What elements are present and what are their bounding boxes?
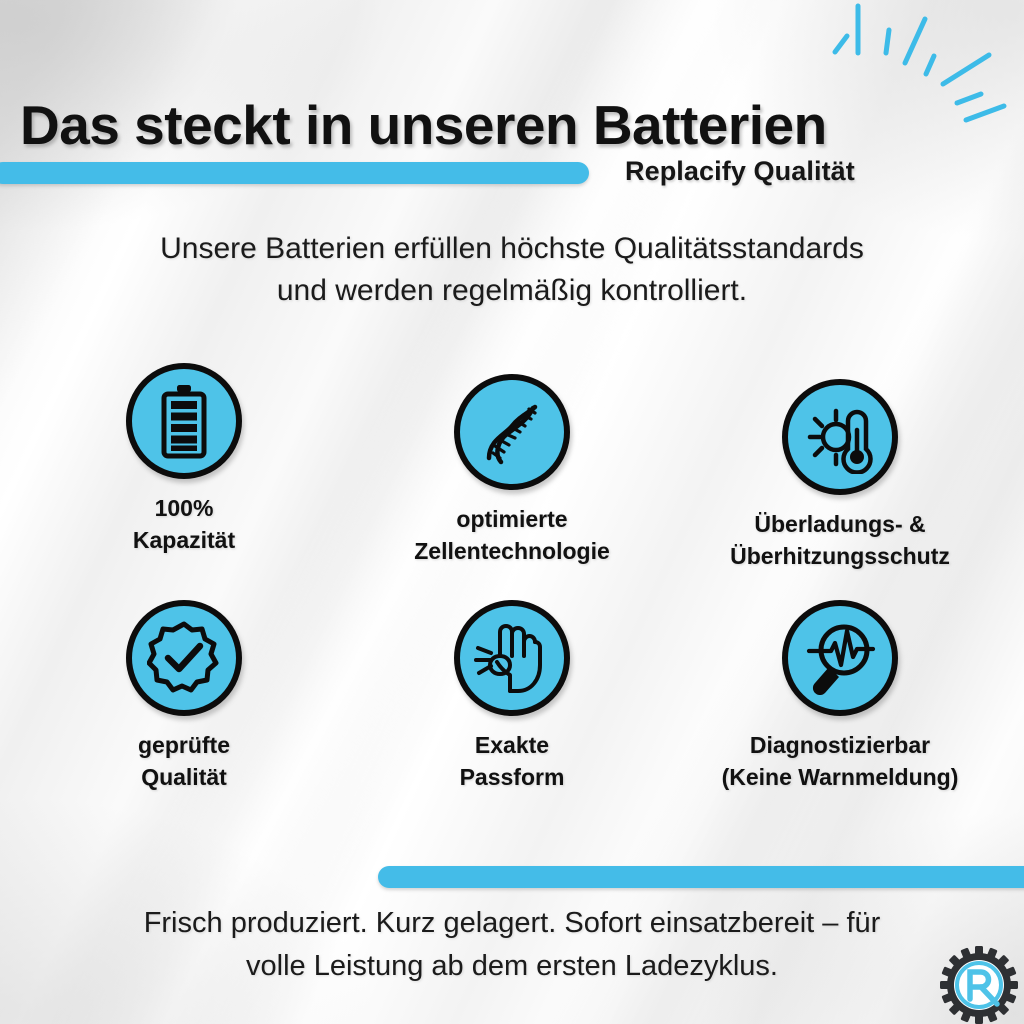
feature-item-cell-technology: optimierte Zellentechnologie bbox=[348, 352, 676, 572]
feature-row-1: 100% Kapazität bbox=[20, 352, 1004, 572]
feature-label-line-1: Exakte bbox=[460, 729, 565, 761]
sun-thermometer-icon bbox=[782, 379, 898, 495]
footer-line-2: volle Leistung ab dem ersten Ladezyklus. bbox=[62, 945, 962, 988]
intro-line-2: und werden regelmäßig kontrolliert. bbox=[62, 270, 962, 312]
verified-badge-check-icon bbox=[126, 600, 242, 716]
infographic-poster: Das steckt in unseren Batterien Replacif… bbox=[0, 0, 1024, 1024]
feature-label-line-2: Kapazität bbox=[133, 524, 235, 556]
feature-label-line-1: 100% bbox=[133, 492, 235, 524]
feature-item-exact-fit: Exakte Passform bbox=[348, 600, 676, 793]
feature-label-line-1: geprüfte bbox=[138, 729, 230, 761]
magnifier-pulse-icon bbox=[782, 600, 898, 716]
footer-line-1: Frisch produziert. Kurz gelagert. Sofort… bbox=[62, 902, 962, 945]
feature-label-line-1: optimierte bbox=[414, 503, 610, 535]
feature-label-line-2: (Keine Warnmeldung) bbox=[722, 761, 959, 793]
accent-bar-top bbox=[0, 162, 589, 184]
intro-paragraph: Unsere Batterien erfüllen höchste Qualit… bbox=[62, 228, 962, 312]
accent-bar-bottom bbox=[378, 866, 1024, 888]
replacify-gear-r-logo bbox=[940, 946, 1018, 1024]
page-title: Das steckt in unseren Batterien bbox=[20, 94, 960, 156]
dna-helix-icon bbox=[454, 374, 570, 490]
battery-full-icon bbox=[126, 363, 242, 479]
feature-label-line-1: Überladungs- & bbox=[730, 508, 950, 540]
feature-label-capacity: 100% Kapazität bbox=[133, 492, 235, 556]
feature-label-line-2: Qualität bbox=[138, 761, 230, 793]
feature-label-cell-technology: optimierte Zellentechnologie bbox=[414, 503, 610, 567]
feature-label-line-2: Überhitzungsschutz bbox=[730, 540, 950, 572]
feature-label-overload-protection: Überladungs- & Überhitzungsschutz bbox=[730, 508, 950, 572]
ok-hand-icon bbox=[454, 600, 570, 716]
intro-line-1: Unsere Batterien erfüllen höchste Qualit… bbox=[62, 228, 962, 270]
brand-subtitle: Replacify Qualität bbox=[625, 156, 855, 187]
feature-label-tested-quality: geprüfte Qualität bbox=[138, 729, 230, 793]
feature-item-tested-quality: geprüfte Qualität bbox=[20, 600, 348, 793]
feature-grid: 100% Kapazität bbox=[20, 352, 1004, 793]
feature-label-line-2: Passform bbox=[460, 761, 565, 793]
feature-row-2: geprüfte Qualität bbox=[20, 600, 1004, 793]
feature-label-line-2: Zellentechnologie bbox=[414, 535, 610, 567]
feature-label-exact-fit: Exakte Passform bbox=[460, 729, 565, 793]
feature-item-overload-protection: Überladungs- & Überhitzungsschutz bbox=[676, 352, 1004, 572]
feature-item-capacity: 100% Kapazität bbox=[20, 352, 348, 572]
footer-paragraph: Frisch produziert. Kurz gelagert. Sofort… bbox=[62, 902, 962, 988]
feature-label-line-1: Diagnostizierbar bbox=[722, 729, 959, 761]
feature-item-diagnosable: Diagnostizierbar (Keine Warnmeldung) bbox=[676, 600, 1004, 793]
feature-label-diagnosable: Diagnostizierbar (Keine Warnmeldung) bbox=[722, 729, 959, 793]
